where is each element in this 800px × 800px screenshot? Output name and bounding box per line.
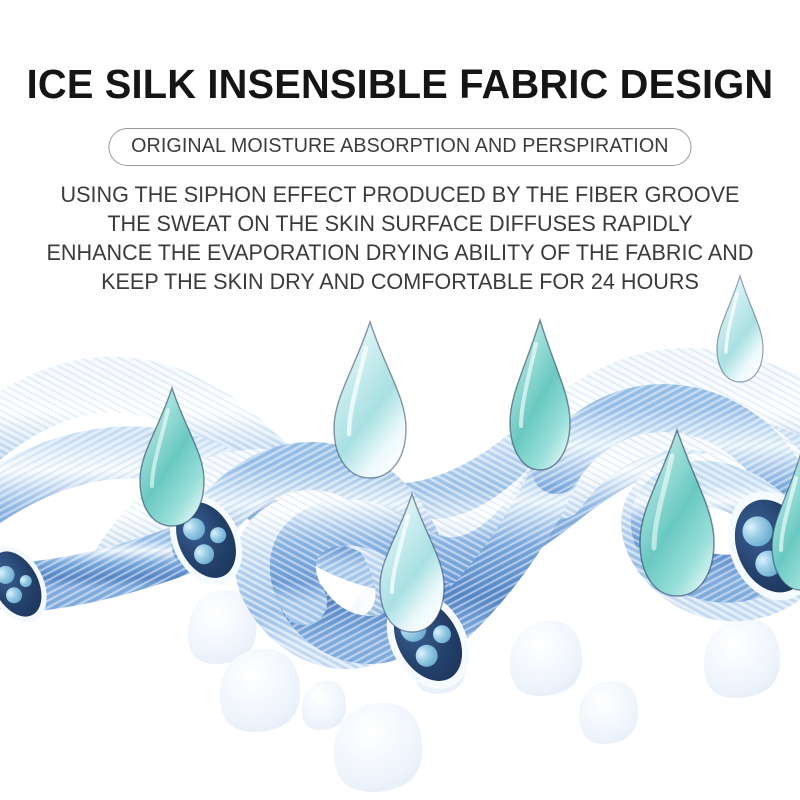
body-line-4: KEEP THE SKIN DRY AND COMFORTABLE FOR 24… (16, 267, 784, 296)
droplet-2 (334, 322, 406, 478)
subtitle-pill: ORIGINAL MOISTURE ABSORPTION AND PERSPIR… (109, 128, 692, 166)
fiber-illustration (0, 258, 800, 800)
body-line-2: THE SWEAT ON THE SKIN SURFACE DIFFUSES R… (16, 209, 784, 238)
page-title: ICE SILK INSENSIBLE FABRIC DESIGN (12, 62, 788, 106)
droplet-4 (510, 320, 570, 470)
fiber-illustration-svg (0, 258, 800, 800)
subtitle-pill-wrapper: ORIGINAL MOISTURE ABSORPTION AND PERSPIR… (0, 128, 800, 166)
body-line-1: USING THE SIPHON EFFECT PRODUCED BY THE … (16, 180, 784, 209)
poster-canvas: ICE SILK INSENSIBLE FABRIC DESIGN ORIGIN… (0, 0, 800, 800)
body-copy: USING THE SIPHON EFFECT PRODUCED BY THE … (0, 180, 800, 296)
body-line-3: ENHANCE THE EVAPORATION DRYING ABILITY O… (16, 238, 784, 267)
